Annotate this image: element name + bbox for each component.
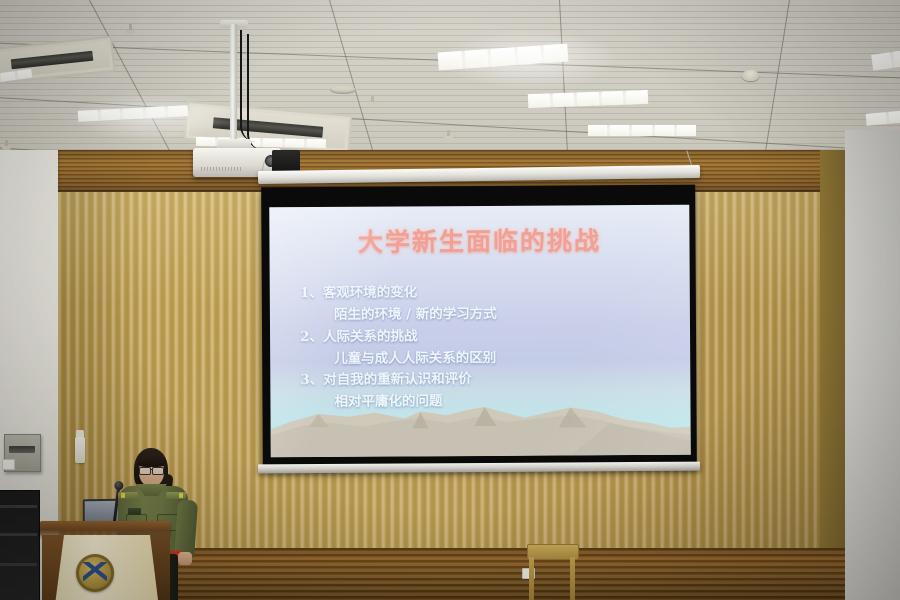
- hair-fringe: [137, 454, 166, 467]
- sprinkler-head: [126, 24, 135, 35]
- rack-shelf: [0, 533, 37, 536]
- vent-slat: [11, 51, 93, 69]
- projection-screen[interactable]: 大学新生面临的挑战 1、客观环境的变化 陌生的环境 / 新的学习方式 2、人际关…: [261, 185, 697, 470]
- shoulder-board: [166, 492, 186, 499]
- institution-emblem: [76, 554, 114, 592]
- hand: [178, 552, 192, 565]
- slide-line: 3、对自我的重新认识和评价: [300, 368, 670, 392]
- lecture-hall-scene: 大学新生面临的挑战 1、客观环境的变化 陌生的环境 / 新的学习方式 2、人际关…: [0, 0, 900, 600]
- presentation-slide: 大学新生面临的挑战 1、客观环境的变化 陌生的环境 / 新的学习方式 2、人际关…: [269, 205, 691, 458]
- sand-dune-graphic: [270, 397, 690, 458]
- slide-line: 1、客观环境的变化: [300, 281, 670, 305]
- fluorescent-light-panel: [588, 125, 696, 136]
- wall-right-return: [820, 150, 848, 600]
- smoke-detector: [742, 70, 759, 81]
- sprinkler-head: [444, 130, 453, 141]
- lectern: [40, 521, 170, 600]
- wall-phone[interactable]: [75, 437, 85, 463]
- sprinkler-head: [368, 96, 377, 107]
- chair-leg: [529, 557, 534, 600]
- projector-vent: [201, 167, 241, 171]
- lectern-top: [40, 521, 170, 536]
- rack-shelf: [0, 563, 37, 566]
- equipment-rack: [0, 490, 40, 600]
- slide-line: 儿童与成人人际关系的区别: [300, 346, 670, 370]
- eyeglasses-icon: [139, 467, 164, 473]
- slide-line: 陌生的环境 / 新的学习方式: [300, 303, 670, 327]
- right-side-wall: [845, 130, 900, 600]
- projector-mount-pole: [230, 24, 237, 146]
- slide-title: 大学新生面临的挑战: [269, 221, 689, 260]
- audience-chair[interactable]: [527, 544, 577, 600]
- slide-body: 1、客观环境的变化 陌生的环境 / 新的学习方式 2、人际关系的挑战 儿童与成人…: [300, 281, 671, 414]
- shoulder-board: [118, 492, 138, 499]
- rack-shelf: [0, 505, 37, 508]
- slide-line: 2、人际关系的挑战: [300, 325, 670, 349]
- chair-leg: [570, 557, 575, 600]
- panel-slot: [9, 446, 35, 453]
- power-outlet[interactable]: [2, 459, 15, 470]
- projector-cable: [247, 34, 271, 150]
- ceiling-speaker: [330, 86, 356, 94]
